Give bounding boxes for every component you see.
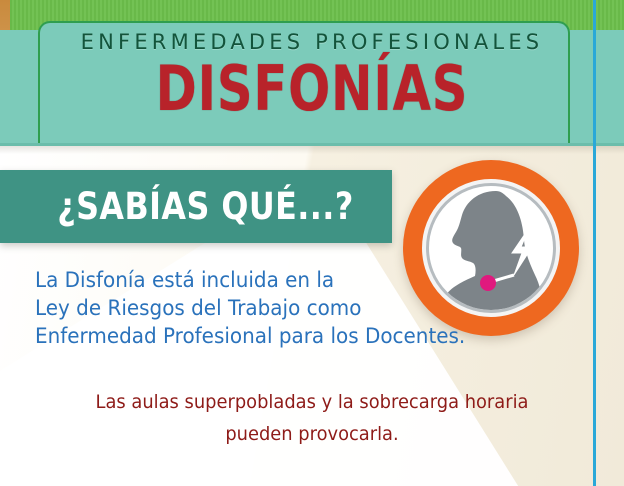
lead-paragraph: La Disfonía está incluida en la Ley de R…	[35, 266, 529, 350]
note-paragraph: Las aulas superpobladas y la sobrecarga …	[19, 386, 606, 450]
lead-line-1: La Disfonía está incluida en la	[35, 266, 529, 294]
note-line-1: Las aulas superpobladas y la sobrecarga …	[19, 386, 606, 418]
lead-line-2: Ley de Riesgos del Trabajo como	[35, 294, 529, 322]
page-title: DISFONÍAS	[62, 58, 561, 120]
did-you-know-ribbon: ¿SABÍAS QUÉ...?	[0, 170, 392, 243]
note-line-2: pueden provocarla.	[19, 418, 606, 450]
infographic-poster: ENFERMEDADES PROFESIONALES DISFONÍAS ¿SA…	[0, 0, 624, 486]
right-blue-rule	[593, 0, 596, 486]
content-sheet-shadow	[0, 146, 624, 154]
did-you-know-label: ¿SABÍAS QUÉ...?	[27, 170, 364, 243]
header-kicker: ENFERMEDADES PROFESIONALES	[0, 30, 624, 54]
lead-line-3: Enfermedad Profesional para los Docentes…	[35, 322, 529, 350]
